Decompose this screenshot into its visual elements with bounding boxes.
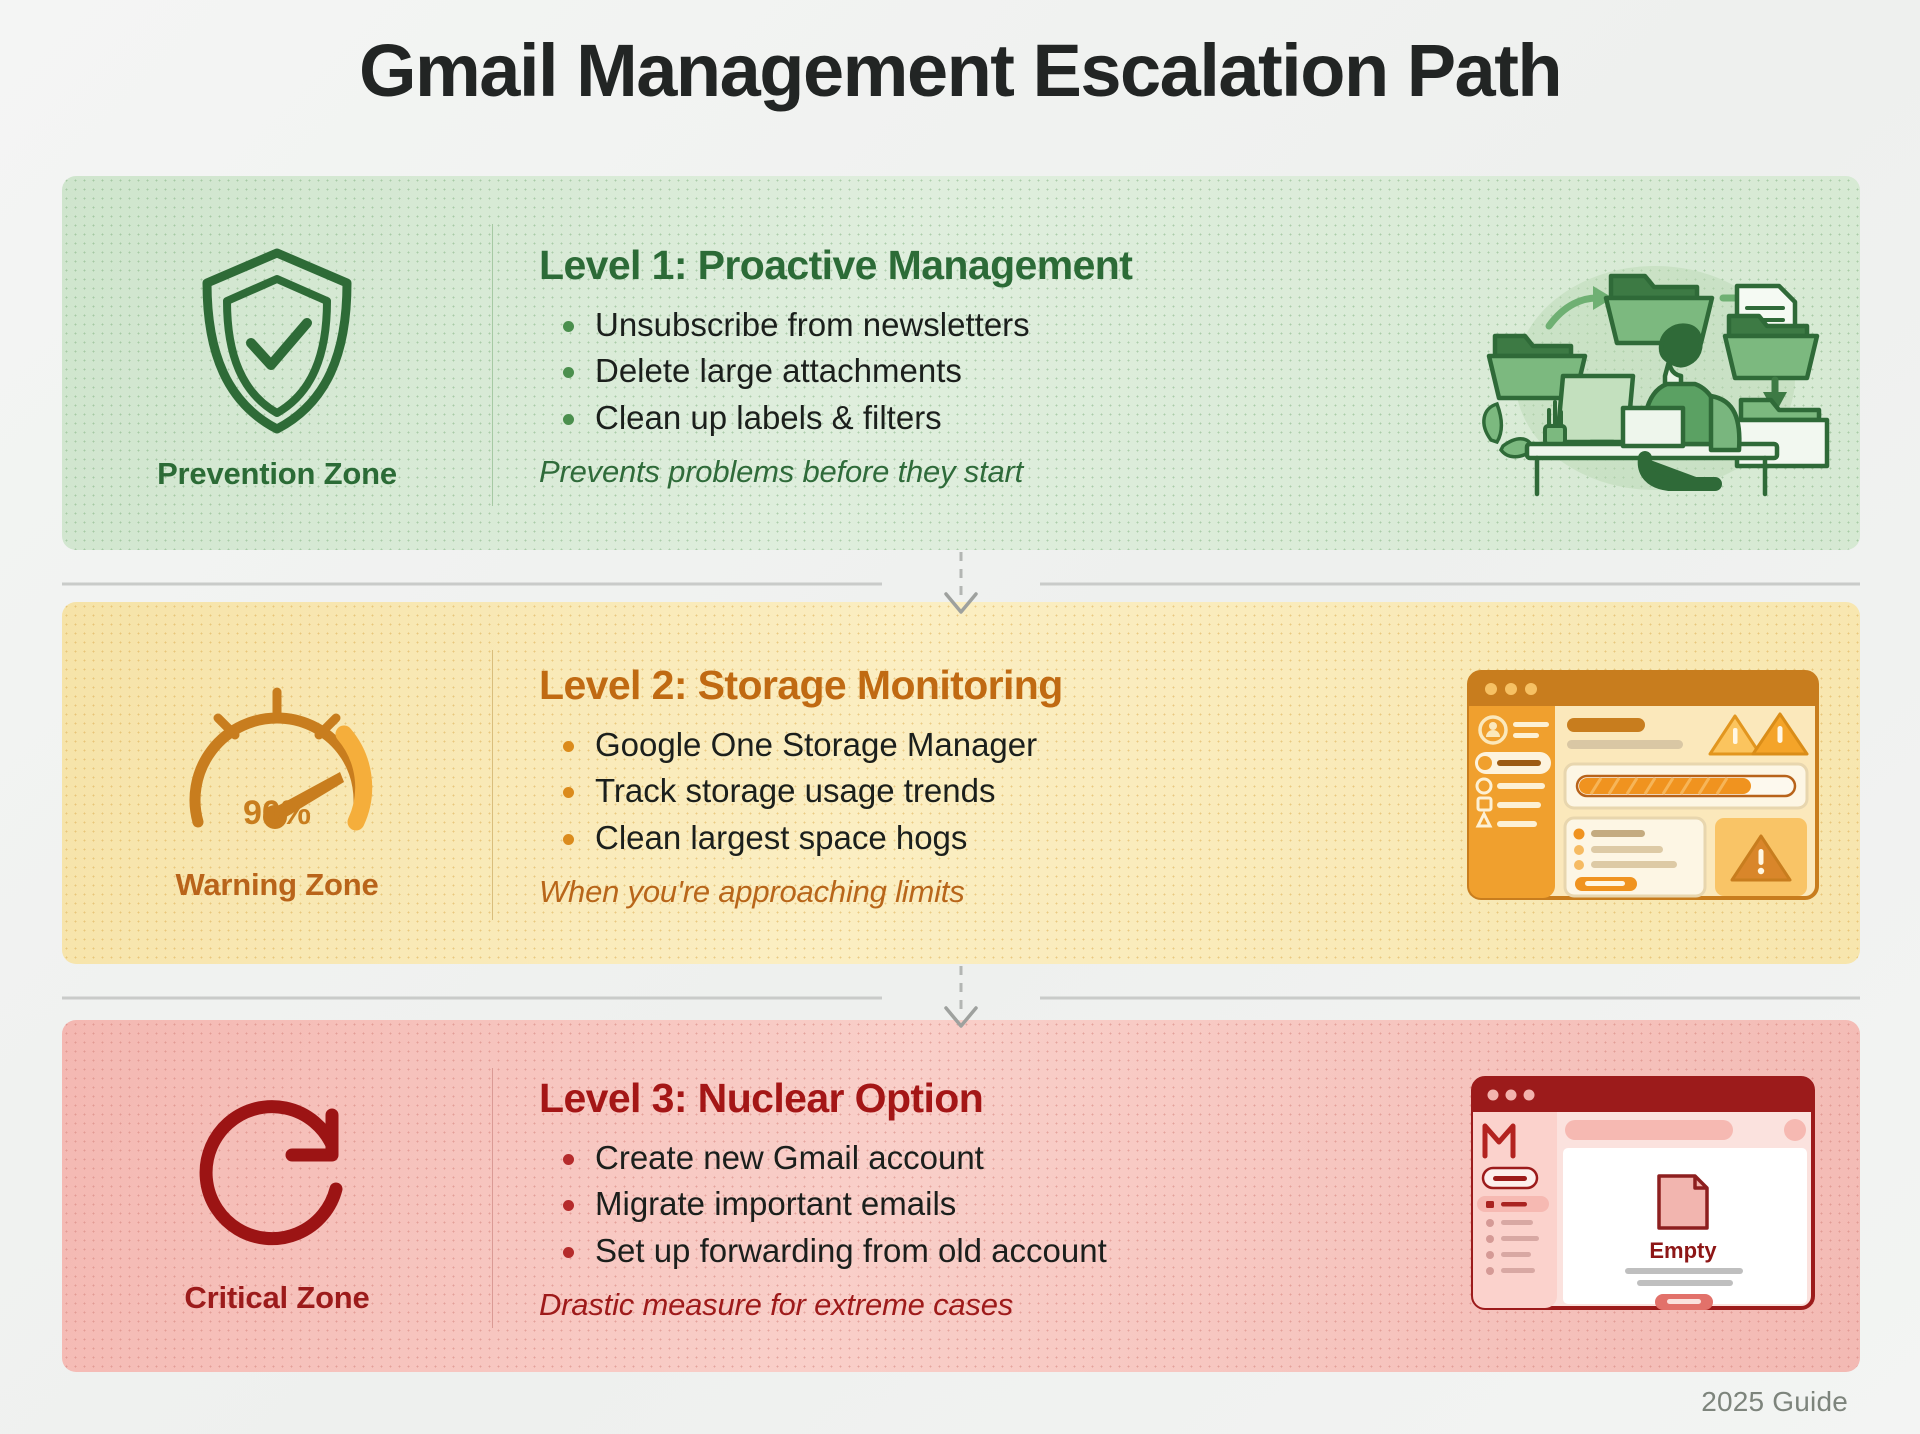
footer-credit: 2025 Guide <box>1701 1386 1848 1418</box>
level-3-bullet-list: Create new Gmail account Migrate importa… <box>561 1136 1430 1276</box>
list-item: Unsubscribe from newsletters <box>561 303 1430 348</box>
level-2-title: Level 2: Storage Monitoring <box>539 662 1430 709</box>
empty-state-label: Empty <box>1649 1238 1717 1263</box>
desk-worker-folders-illustration <box>1430 176 1860 550</box>
level-2-zone-column: 90% Warning Zone <box>62 602 492 964</box>
list-item: Migrate important emails <box>561 1182 1430 1227</box>
shield-check-icon <box>189 243 365 444</box>
level-2-text-column: Level 2: Storage Monitoring Google One S… <box>493 602 1430 964</box>
page-title: Gmail Management Escalation Path <box>0 28 1920 113</box>
infographic-canvas: Gmail Management Escalation Path Prevent… <box>0 0 1920 1434</box>
level-2-panel: 90% Warning Zone Level 2: Storage Monito… <box>62 602 1860 964</box>
list-item: Clean largest space hogs <box>561 816 1430 861</box>
level-3-zone-label: Critical Zone <box>184 1280 369 1316</box>
level-3-tagline: Drastic measure for extreme cases <box>539 1287 1430 1323</box>
level-3-panel: Critical Zone Level 3: Nuclear Option Cr… <box>62 1020 1860 1372</box>
level-1-text-column: Level 1: Proactive Management Unsubscrib… <box>493 176 1430 550</box>
level-3-zone-column: Critical Zone <box>62 1020 492 1372</box>
list-item: Google One Storage Manager <box>561 723 1430 768</box>
list-item: Track storage usage trends <box>561 769 1430 814</box>
list-item: Clean up labels & filters <box>561 396 1430 441</box>
level-1-panel: Prevention Zone Level 1: Proactive Manag… <box>62 176 1860 550</box>
level-1-bullet-list: Unsubscribe from newsletters Delete larg… <box>561 303 1430 443</box>
level-2-zone-label: Warning Zone <box>175 867 378 903</box>
list-item: Delete large attachments <box>561 349 1430 394</box>
list-item: Set up forwarding from old account <box>561 1229 1430 1274</box>
level-2-tagline: When you're approaching limits <box>539 874 1430 910</box>
arrow-level2-to-level3 <box>62 964 1860 1034</box>
level-3-text-column: Level 3: Nuclear Option Create new Gmail… <box>493 1020 1430 1372</box>
circular-reset-arrow-icon <box>184 1085 370 1268</box>
arrow-level1-to-level2 <box>62 550 1860 620</box>
level-1-zone-label: Prevention Zone <box>157 456 397 492</box>
level-3-title: Level 3: Nuclear Option <box>539 1075 1430 1122</box>
level-1-title: Level 1: Proactive Management <box>539 242 1430 289</box>
gauge-icon: 90% <box>172 672 382 855</box>
level-2-bullet-list: Google One Storage Manager Track storage… <box>561 723 1430 863</box>
gmail-empty-inbox-illustration: Empty <box>1430 1020 1860 1372</box>
storage-dashboard-illustration <box>1430 602 1860 964</box>
level-1-zone-column: Prevention Zone <box>62 176 492 550</box>
list-item: Create new Gmail account <box>561 1136 1430 1181</box>
gauge-value-label: 90% <box>243 794 311 832</box>
level-1-tagline: Prevents problems before they start <box>539 454 1430 490</box>
